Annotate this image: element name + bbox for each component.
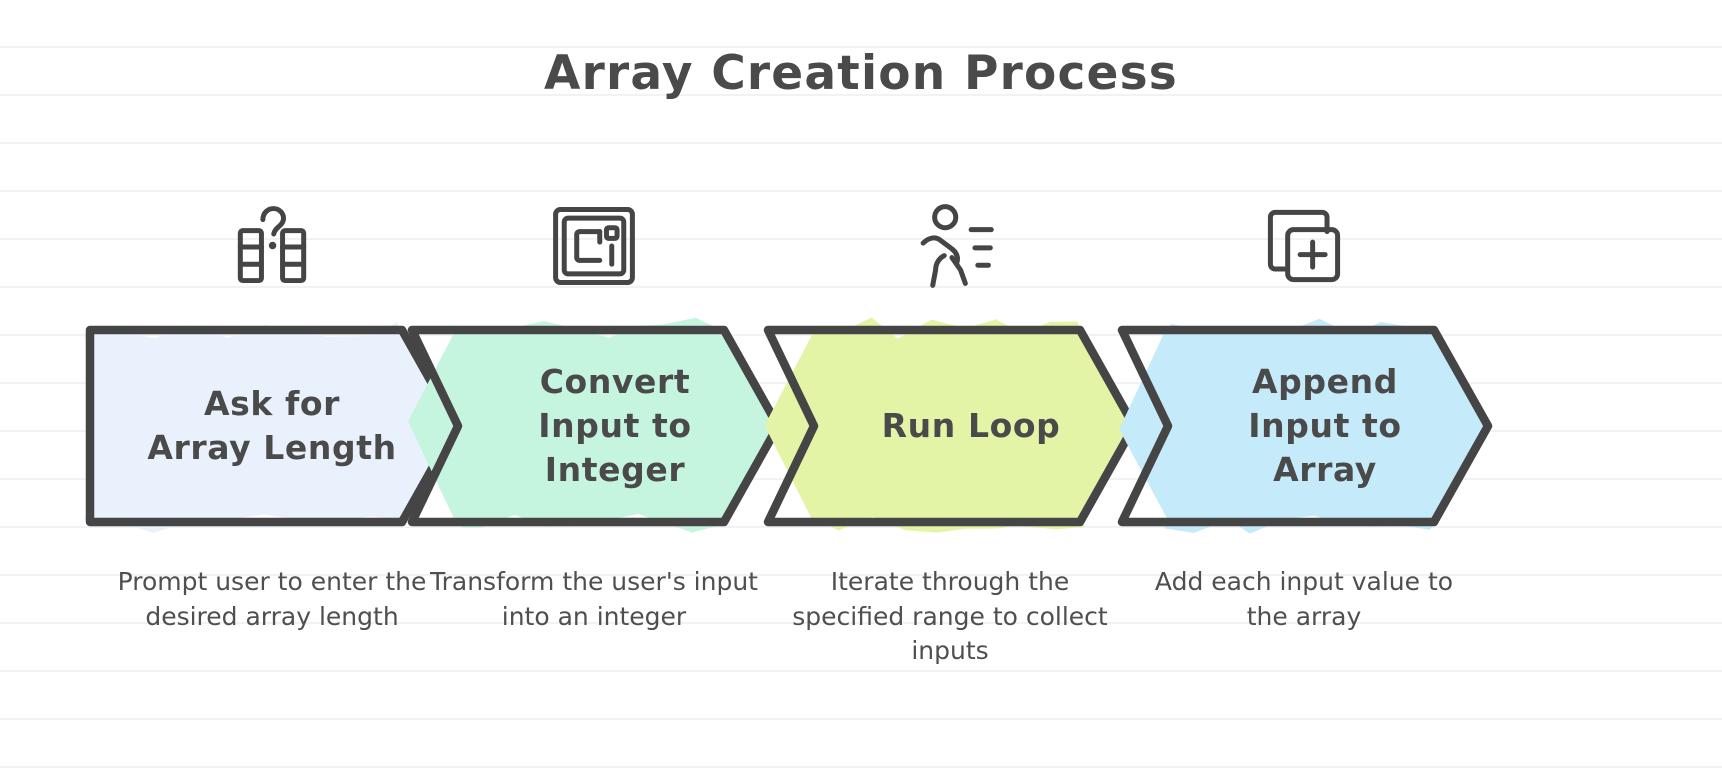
- process-step-convert-input-to-integer: ConvertInput toIntegerTransform the user…: [408, 0, 780, 774]
- chevron-banner-run-loop[interactable]: Run Loop: [764, 326, 1136, 526]
- chevron-fill: [408, 318, 776, 533]
- chevron-fill: [1119, 319, 1486, 534]
- running-person-icon: [764, 196, 1136, 296]
- step-caption-append-input-to-array: Add each input value to the array: [1118, 565, 1490, 634]
- chevron-banner-convert-input-to-integer[interactable]: ConvertInput toInteger: [408, 326, 780, 526]
- chevron-banner-ask-for-array-length[interactable]: Ask forArray Length: [86, 326, 458, 526]
- process-step-ask-for-array-length: Ask forArray LengthPrompt user to enter …: [86, 0, 458, 774]
- diagram-canvas: Array Creation Process Ask forArray Leng…: [0, 0, 1722, 774]
- process-step-append-input-to-array: AppendInput toArrayAdd each input value …: [1118, 0, 1490, 774]
- step-caption-run-loop: Iterate through the specified range to c…: [764, 565, 1136, 669]
- chevron-fill: [765, 317, 1132, 532]
- type-conversion-icon: [408, 196, 780, 296]
- add-copy-icon: [1118, 196, 1490, 296]
- step-caption-ask-for-array-length: Prompt user to enter the desired array l…: [86, 565, 458, 634]
- chevron-banner-append-input-to-array[interactable]: AppendInput toArray: [1118, 326, 1490, 526]
- step-caption-convert-input-to-integer: Transform the user's input into an integ…: [408, 565, 780, 634]
- chevron-fill: [84, 322, 455, 533]
- process-step-run-loop: Run LoopIterate through the specified ra…: [764, 0, 1136, 774]
- input-field-question-icon: [86, 196, 458, 296]
- process-step-list: Ask forArray LengthPrompt user to enter …: [0, 0, 1722, 774]
